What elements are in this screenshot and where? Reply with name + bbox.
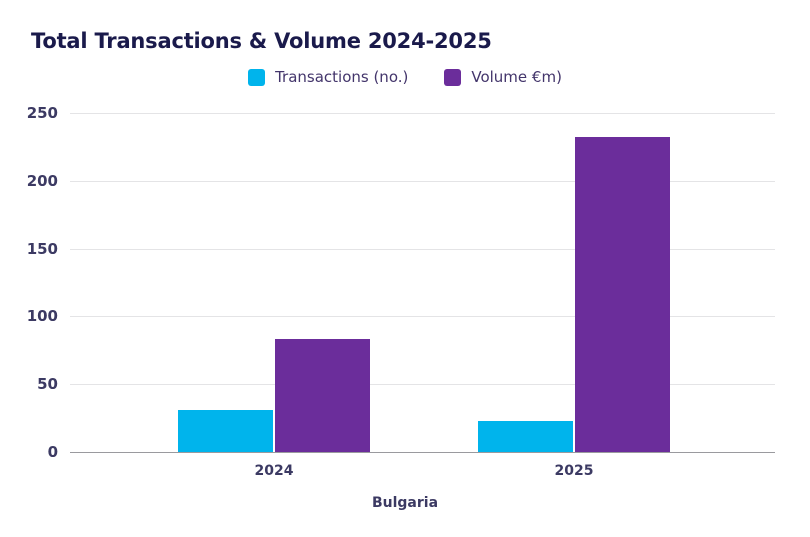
bar[interactable] — [575, 137, 670, 452]
y-axis-tick-label: 250 — [27, 104, 58, 122]
legend-swatch-icon — [444, 69, 461, 86]
legend-swatch-icon — [248, 69, 265, 86]
gridline — [70, 113, 775, 114]
y-axis-tick-label: 200 — [27, 172, 58, 190]
plot-area: 05010015020025020242025 — [70, 113, 775, 452]
x-axis-tick-label: 2024 — [255, 463, 294, 479]
legend-item[interactable]: Volume €m) — [444, 68, 562, 86]
x-axis-line — [70, 452, 775, 453]
bar-chart: Total Transactions & Volume 2024-2025 Tr… — [0, 0, 810, 537]
y-axis-tick-label: 100 — [27, 307, 58, 325]
legend-item-label: Volume €m) — [471, 68, 562, 86]
x-axis-title: Bulgaria — [0, 495, 810, 511]
legend-item[interactable]: Transactions (no.) — [248, 68, 408, 86]
bar[interactable] — [275, 339, 370, 452]
bar[interactable] — [178, 410, 273, 452]
y-axis-tick-label: 150 — [27, 240, 58, 258]
legend-item-label: Transactions (no.) — [275, 68, 408, 86]
chart-legend: Transactions (no.)Volume €m) — [0, 68, 810, 86]
x-axis-tick-label: 2025 — [555, 463, 594, 479]
bar[interactable] — [478, 421, 573, 452]
chart-title: Total Transactions & Volume 2024-2025 — [31, 29, 492, 53]
y-axis-tick-label: 0 — [48, 443, 58, 461]
y-axis-tick-label: 50 — [37, 375, 58, 393]
